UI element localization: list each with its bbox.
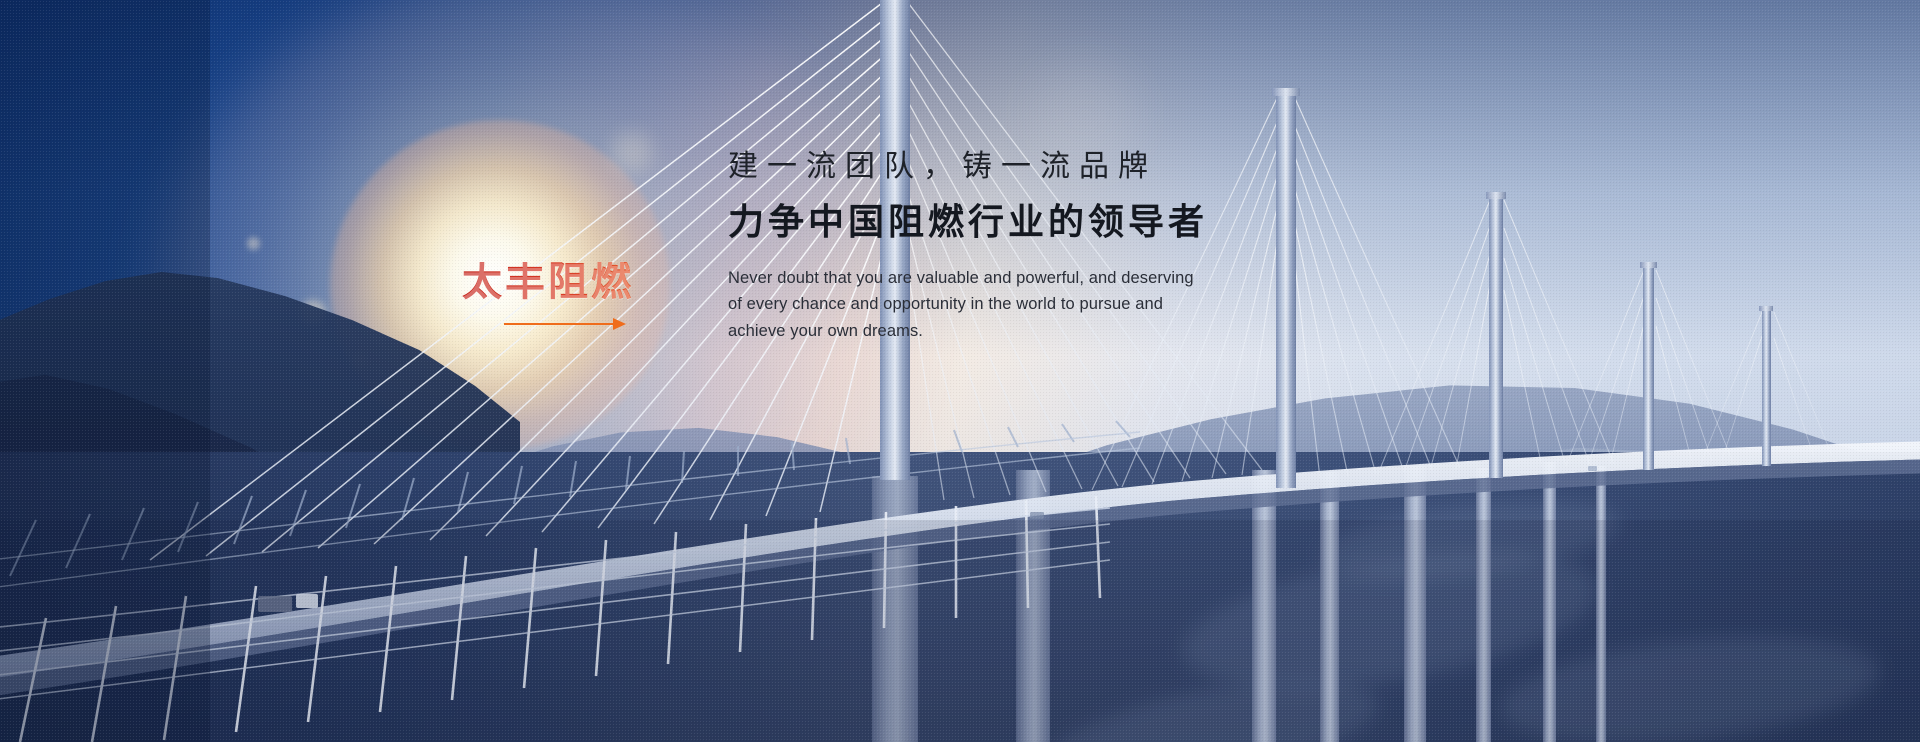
banner-subtext: Never doubt that you are valuable and po…	[728, 265, 1294, 345]
brand-logo[interactable]: 太丰阻燃	[462, 262, 682, 330]
arrow-right-icon	[504, 318, 626, 330]
arrow-shaft	[504, 323, 616, 325]
subtext-line-1: Never doubt that you are valuable and po…	[728, 265, 1294, 292]
banner-text-block: 建一流团队，铸一流品牌 力争中国阻燃行业的领导者 Never doubt tha…	[728, 148, 1368, 345]
arrow-head	[613, 318, 626, 330]
headline-primary: 建一流团队，铸一流品牌	[728, 148, 1368, 186]
headline-secondary: 力争中国阻燃行业的领导者	[728, 200, 1368, 243]
brand-logo-text: 太丰阻燃	[462, 262, 682, 302]
subtext-line-2: of every chance and opportunity in the w…	[728, 291, 1294, 318]
hero-banner: 太丰阻燃 建一流团队，铸一流品牌 力争中国阻燃行业的领导者 Never doub…	[0, 0, 1920, 742]
subtext-line-3: achieve your own dreams.	[728, 318, 1294, 345]
banner-content: 太丰阻燃 建一流团队，铸一流品牌 力争中国阻燃行业的领导者 Never doub…	[0, 0, 1920, 742]
